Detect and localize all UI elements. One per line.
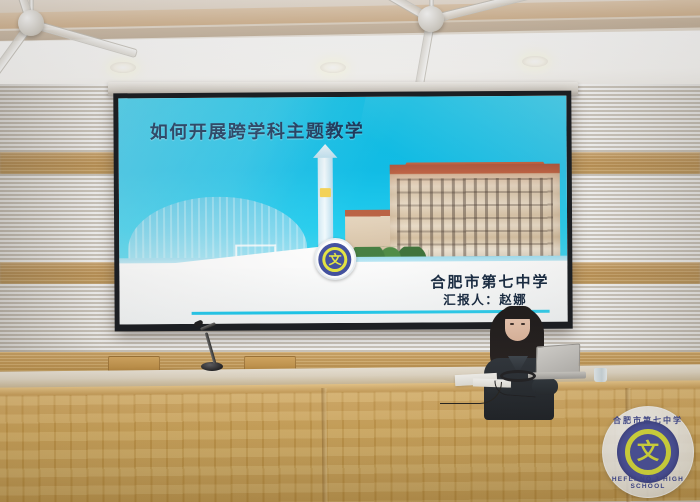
school-watermark-logo: 合肥市第七中学 文 HEFEI NO.7 HIGH SCHOOL [602, 406, 694, 498]
recessed-downlight [522, 56, 548, 67]
projection-screen[interactable]: 如何开展跨学科主题教学 文 合肥市第七中学 汇报人：赵娜 [113, 91, 572, 332]
watermark-ring: 文 [625, 429, 671, 475]
fan-hub [18, 10, 44, 36]
slide-tower-clock [320, 188, 331, 197]
presentation-slide: 如何开展跨学科主题教学 文 合肥市第七中学 汇报人：赵娜 [118, 96, 567, 325]
microphone-base[interactable] [201, 362, 223, 371]
laptop-keyboard[interactable] [528, 371, 586, 379]
watermark-disc: 文 [617, 421, 679, 483]
fan-hub [418, 6, 444, 32]
lecture-hall-photo: 如何开展跨学科主题教学 文 合肥市第七中学 汇报人：赵娜 [0, 0, 700, 502]
emblem-disc: 文 [319, 243, 352, 276]
presenter-eye [521, 323, 525, 325]
watermark-school-name-en: HEFEI NO.7 HIGH SCHOOL [603, 476, 693, 490]
wall-shadow [0, 84, 120, 374]
emblem-glyph: 文 [329, 253, 342, 266]
watermark-school-name: 合肥市第七中学 [603, 415, 693, 426]
emblem-ring: 文 [323, 247, 348, 272]
recessed-downlight [110, 62, 136, 73]
wooden-podium-front [0, 380, 700, 502]
watermark-glyph: 文 [637, 441, 659, 463]
presenter-fringe [502, 306, 533, 319]
slide-title: 如何开展跨学科主题教学 [150, 117, 365, 144]
presenter-eye [510, 323, 514, 325]
headset [500, 370, 536, 382]
recessed-downlight [320, 62, 346, 73]
school-emblem-icon: 文 [314, 238, 356, 280]
water-cup [594, 368, 607, 382]
wall-shadow [570, 84, 700, 374]
